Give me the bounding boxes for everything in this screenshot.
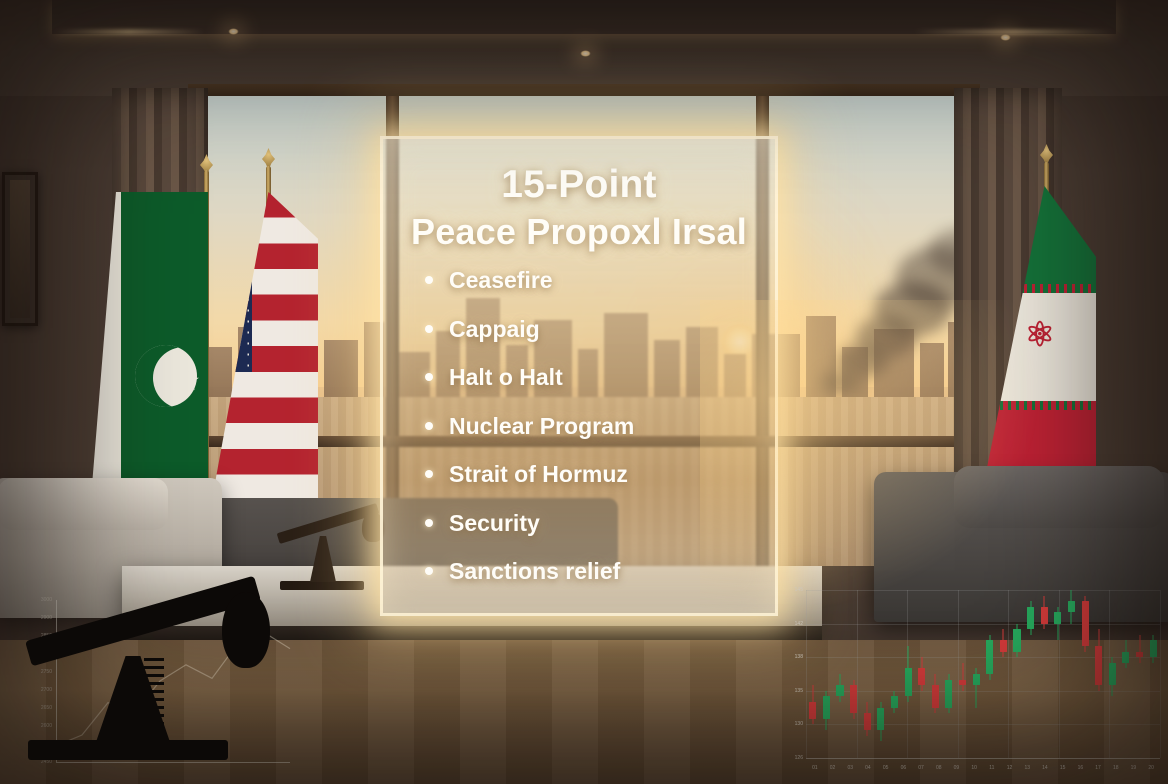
x-tick-label: 15 <box>1060 765 1066 771</box>
x-tick-label: 12 <box>1007 765 1013 771</box>
x-tick-label: 04 <box>865 765 871 771</box>
list-item: Nuclear Program <box>417 413 757 440</box>
x-tick-label: 17 <box>1095 765 1101 771</box>
candlestick <box>836 674 843 702</box>
panel-title: 15-Point Peace Propoxl Irsal <box>383 161 775 255</box>
peace-proposal-panel[interactable]: 15-Point Peace Propoxl Irsal Ceasefire C… <box>380 136 778 616</box>
candlestick <box>945 674 952 713</box>
x-tick-label: 10 <box>971 765 977 771</box>
x-tick-label: 18 <box>1113 765 1119 771</box>
panel-title-line2: Peace Propoxl Irsal <box>383 208 775 255</box>
proposal-bullet-list: Ceasefire Cappaig Halt o Halt Nuclear Pr… <box>417 267 757 607</box>
grid-line <box>806 724 1160 725</box>
x-tick-label: 03 <box>847 765 853 771</box>
candlestick <box>1013 624 1020 658</box>
candlestick <box>891 691 898 713</box>
flag-cloth-usa <box>200 192 318 526</box>
candlestick <box>1095 629 1102 691</box>
candlestick <box>1000 629 1007 657</box>
candlestick <box>1122 640 1129 668</box>
framed-artwork <box>2 172 38 326</box>
x-tick-label: 01 <box>812 765 818 771</box>
grid-line <box>806 691 1160 692</box>
y-tick-label: 145 <box>795 587 803 593</box>
grid-line <box>857 590 858 758</box>
candlestick <box>1082 596 1089 652</box>
cove-light-right <box>914 30 1114 34</box>
grid-line <box>806 624 1160 625</box>
list-item: Security <box>417 510 757 537</box>
y-tick-label: 142 <box>795 621 803 627</box>
candlestick <box>1027 601 1034 635</box>
oil-pump-jack-model-icon <box>272 512 384 590</box>
x-tick-label: 16 <box>1078 765 1084 771</box>
downlight-icon <box>228 28 239 35</box>
candlestick <box>973 668 980 707</box>
grid-line <box>806 657 1160 658</box>
x-tick-label: 08 <box>936 765 942 771</box>
candlestick <box>986 635 993 680</box>
candlestick <box>959 663 966 691</box>
oil-pump-jack-silhouette-icon <box>18 596 268 784</box>
x-tick-label: 07 <box>918 765 924 771</box>
list-item: Sanctions relief <box>417 558 757 585</box>
market-candlestick-chart: 1451421381351301260102030405060708091011… <box>780 560 1168 784</box>
x-tick-label: 20 <box>1148 765 1154 771</box>
list-item: Cappaig <box>417 316 757 343</box>
iran-tulip-emblem-icon: ⚛ <box>1020 318 1060 352</box>
grid-line <box>1008 590 1009 758</box>
candlestick <box>850 680 857 719</box>
flag-pakistan <box>88 170 208 530</box>
grid-line <box>1160 590 1161 758</box>
candlestick <box>918 657 925 691</box>
x-tick-label: 19 <box>1131 765 1137 771</box>
x-tick-label: 14 <box>1042 765 1048 771</box>
candlestick <box>809 685 816 724</box>
y-tick-label: 130 <box>795 721 803 727</box>
candlestick <box>1109 657 1116 696</box>
candlestick <box>1054 607 1061 641</box>
flag-usa <box>210 166 326 544</box>
x-tick-label: 13 <box>1024 765 1030 771</box>
candlestick <box>1136 635 1143 663</box>
candlestick <box>905 646 912 702</box>
grid-line <box>806 590 807 758</box>
flag-cloth-pakistan <box>90 192 208 510</box>
x-tick-label: 02 <box>830 765 836 771</box>
scene-root: ⚛ 15-Point Peace Propoxl Irsal Ceasefire… <box>0 0 1168 784</box>
downlight-icon <box>1000 34 1011 41</box>
panel-title-line1: 15-Point <box>501 163 656 206</box>
ceiling-recess <box>52 0 1116 34</box>
candlestick <box>932 674 939 713</box>
x-tick-label: 05 <box>883 765 889 771</box>
x-axis <box>806 758 1160 759</box>
x-tick-label: 06 <box>901 765 907 771</box>
y-tick-label: 135 <box>795 688 803 694</box>
list-item: Ceasefire <box>417 267 757 294</box>
cove-light-left <box>54 30 204 34</box>
candlestick <box>1150 635 1157 663</box>
candlestick <box>877 702 884 741</box>
flag-cloth-iran: ⚛ <box>984 186 1096 508</box>
x-tick-label: 11 <box>989 765 994 771</box>
candlestick <box>823 691 830 730</box>
candlestick <box>1041 596 1048 630</box>
candlestick <box>864 702 871 736</box>
list-item: Strait of Hormuz <box>417 461 757 488</box>
candlestick <box>1068 590 1075 624</box>
list-item: Halt o Halt <box>417 364 757 391</box>
downlight-icon <box>580 50 591 57</box>
grid-line <box>806 590 1160 591</box>
y-tick-label: 138 <box>795 654 803 660</box>
x-tick-label: 09 <box>954 765 960 771</box>
ceiling <box>0 0 1168 96</box>
y-tick-label: 126 <box>795 755 803 761</box>
